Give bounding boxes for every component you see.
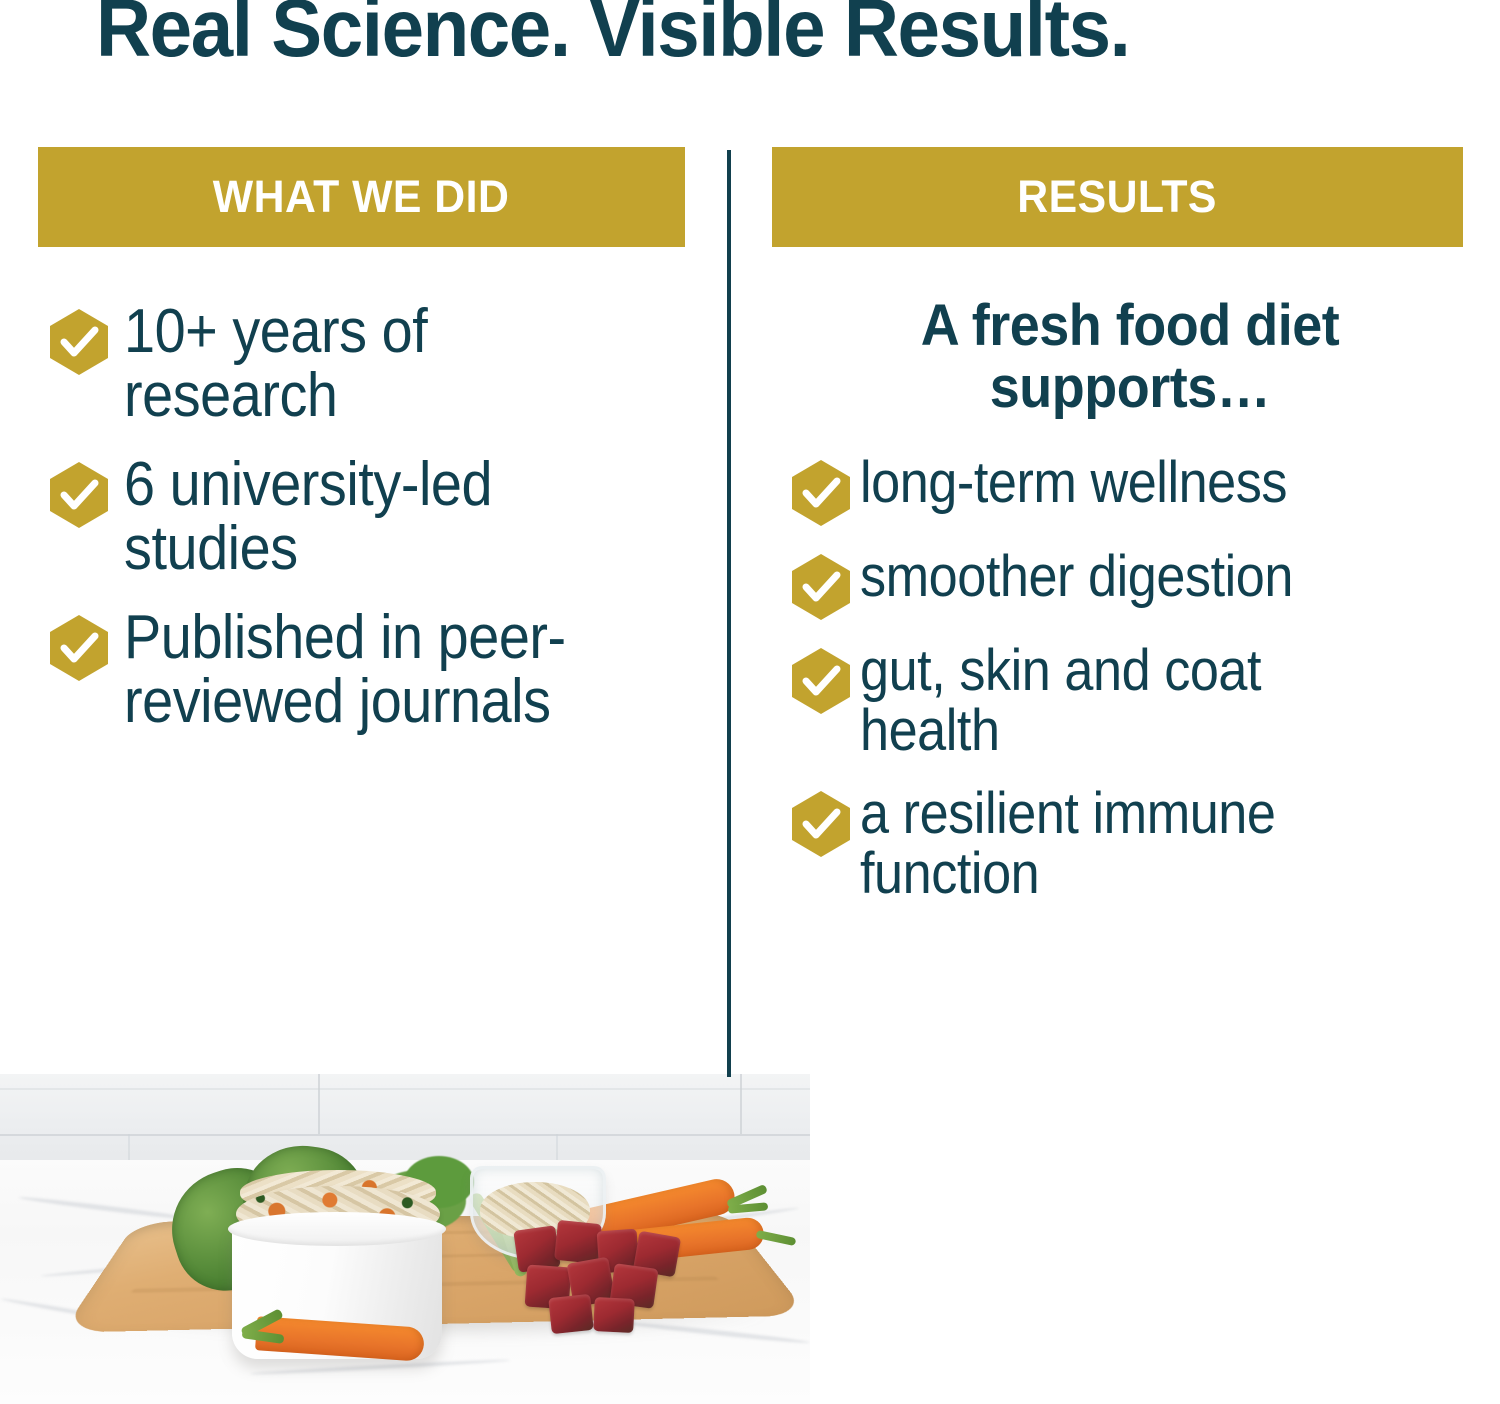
- beef-cube: [548, 1294, 594, 1334]
- check-hexagon-icon: [48, 614, 110, 682]
- list-item-label: a resilient immune function: [860, 784, 1409, 905]
- list-item: smoother digestion: [790, 547, 1470, 619]
- bowl-rim: [228, 1212, 446, 1246]
- check-hexagon-icon: [48, 461, 110, 529]
- what-we-did-column: 10+ years of research 6 university-led s…: [48, 300, 698, 759]
- list-item-label: gut, skin and coat health: [860, 641, 1409, 762]
- beef-cube: [593, 1297, 635, 1333]
- list-item: Published in peer-reviewed journals: [48, 606, 698, 735]
- list-item-label: long-term wellness: [860, 453, 1409, 513]
- results-subheading: A fresh food diet supports…: [814, 295, 1446, 419]
- subway-tile-backsplash: [0, 1074, 810, 1164]
- results-column: A fresh food diet supports… long-term we…: [790, 295, 1470, 926]
- list-item: 10+ years of research: [48, 300, 698, 429]
- list-item: long-term wellness: [790, 453, 1470, 525]
- list-item-label: 6 university-led studies: [124, 453, 641, 582]
- beef-cube: [554, 1220, 602, 1264]
- list-item: gut, skin and coat health: [790, 641, 1470, 762]
- check-hexagon-icon: [790, 553, 850, 619]
- list-item-label: smoother digestion: [860, 547, 1409, 607]
- column-header-what-we-did: WHAT WE DID: [38, 147, 685, 247]
- infographic-root: Real Science. Visible Results. WHAT WE D…: [0, 0, 1500, 1404]
- column-header-results: RESULTS: [772, 147, 1463, 247]
- check-hexagon-icon: [790, 459, 850, 525]
- column-header-label: WHAT WE DID: [213, 171, 510, 223]
- column-header-label: RESULTS: [1018, 171, 1218, 223]
- check-hexagon-icon: [790, 647, 850, 713]
- list-item: 6 university-led studies: [48, 453, 698, 582]
- list-item-label: Published in peer-reviewed journals: [124, 606, 641, 735]
- fresh-dog-food-photo: [0, 1074, 810, 1404]
- page-title: Real Science. Visible Results.: [96, 0, 1129, 70]
- list-item-label: 10+ years of research: [124, 300, 641, 429]
- column-divider: [727, 150, 731, 1077]
- check-hexagon-icon: [48, 308, 110, 376]
- list-item: a resilient immune function: [790, 784, 1470, 905]
- check-hexagon-icon: [790, 790, 850, 856]
